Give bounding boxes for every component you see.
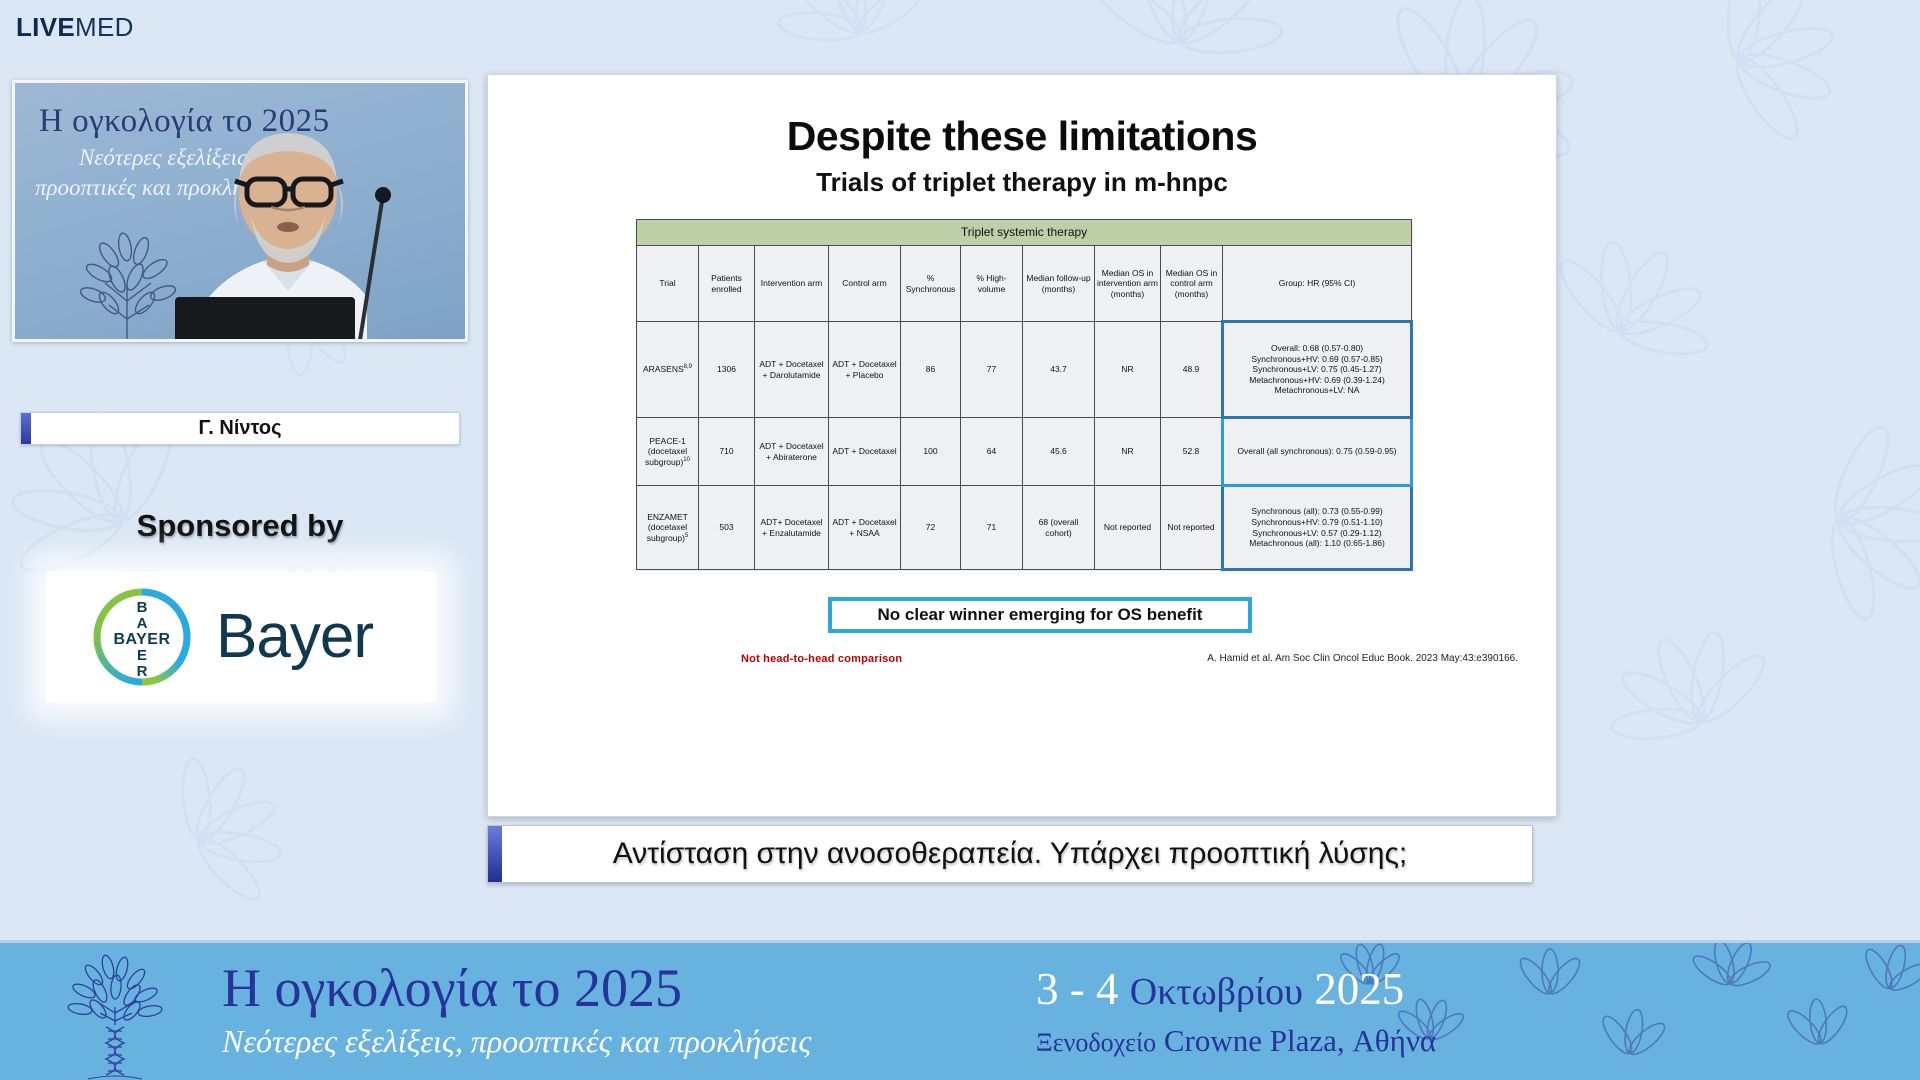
cell-os-control: 48.9 bbox=[1161, 322, 1223, 418]
svg-text:R: R bbox=[137, 663, 148, 680]
cell-os-intervention: NR bbox=[1095, 418, 1161, 486]
col-followup: Median follow-up (months) bbox=[1023, 246, 1095, 322]
cell-os-intervention: NR bbox=[1095, 322, 1161, 418]
slide-title: Despite these limitations bbox=[488, 113, 1556, 160]
cell-os-intervention: Not reported bbox=[1095, 486, 1161, 570]
cell-high-volume: 77 bbox=[961, 322, 1023, 418]
speaker-name-bar: Γ. Νίντος bbox=[20, 412, 460, 445]
banner-venue: Ξενοδοχείο Crowne Plaza, Αθήνα bbox=[1036, 1023, 1436, 1059]
presentation-slide[interactable]: Despite these limitations Trials of trip… bbox=[487, 74, 1557, 817]
cell-followup: 45.6 bbox=[1023, 418, 1095, 486]
col-intervention: Intervention arm bbox=[755, 246, 829, 322]
col-high-volume: % High-volume bbox=[961, 246, 1023, 322]
trial-ref: 5 bbox=[685, 533, 688, 539]
col-patients: Patients enrolled bbox=[699, 246, 755, 322]
cell-hazard-ratio: Overall: 0.68 (0.57-0.80) Synchronous+HV… bbox=[1223, 322, 1412, 418]
cell-high-volume: 64 bbox=[961, 418, 1023, 486]
table-row: ENZAMET (docetaxel subgroup)5 503 ADT+ D… bbox=[637, 486, 1412, 570]
banner-subtitle: Νεότερες εξελίξεις, προοπτικές και προκλ… bbox=[222, 1023, 811, 1060]
col-synchronous: % Synchronous bbox=[901, 246, 961, 322]
cell-hazard-ratio: Synchronous (all): 0.73 (0.55-0.99) Sync… bbox=[1223, 486, 1412, 570]
cell-control: ADT + Docetaxel + NSAA bbox=[829, 486, 901, 570]
bayer-wordmark: Bayer bbox=[216, 606, 373, 668]
sponsor-logo[interactable]: B A E R BAYER Bayer bbox=[46, 572, 436, 702]
cell-trial: ARASENS8,9 bbox=[637, 322, 699, 418]
footnote-citation: A. Hamid et al. Am Soc Clin Oncol Educ B… bbox=[1207, 653, 1518, 664]
session-caption-text: Αντίσταση στην ανοσοθεραπεία. Υπάρχει πρ… bbox=[613, 837, 1408, 871]
cell-trial: ENZAMET (docetaxel subgroup)5 bbox=[637, 486, 699, 570]
trial-ref: 8,9 bbox=[684, 364, 692, 370]
callout-box: No clear winner emerging for OS benefit bbox=[828, 597, 1252, 633]
laptop-on-podium bbox=[175, 297, 355, 339]
cell-synchronous: 72 bbox=[901, 486, 961, 570]
cell-followup: 68 (overall cohort) bbox=[1023, 486, 1095, 570]
table-row: ARASENS8,9 1306 ADT + Docetaxel + Darolu… bbox=[637, 322, 1412, 418]
svg-text:B: B bbox=[137, 599, 148, 616]
cell-patients: 710 bbox=[699, 418, 755, 486]
cell-hazard-ratio: Overall (all synchronous): 0.75 (0.59-0.… bbox=[1223, 418, 1412, 486]
banner-venue-name: Crowne Plaza, Αθήνα bbox=[1164, 1023, 1436, 1058]
cell-control: ADT + Docetaxel bbox=[829, 418, 901, 486]
cell-intervention: ADT+ Docetaxel + Enzalutamide bbox=[755, 486, 829, 570]
speaker-video-panel[interactable]: Η ογκολογία το 2025 Νεότερες εξελίξεις, … bbox=[12, 80, 468, 342]
sponsored-by-label: Sponsored by bbox=[0, 508, 480, 544]
table-column-header-row: Trial Patients enrolled Intervention arm… bbox=[637, 246, 1412, 322]
svg-text:BAYER: BAYER bbox=[113, 631, 170, 648]
table-group-header: Triplet systemic therapy bbox=[637, 220, 1412, 246]
cell-patients: 1306 bbox=[699, 322, 755, 418]
cell-intervention: ADT + Docetaxel + Darolutamide bbox=[755, 322, 829, 418]
cell-synchronous: 100 bbox=[901, 418, 961, 486]
banner-date-year: 2025 bbox=[1314, 964, 1404, 1014]
session-caption-bar: Αντίσταση στην ανοσοθεραπεία. Υπάρχει πρ… bbox=[487, 825, 1533, 883]
col-trial: Trial bbox=[637, 246, 699, 322]
cell-os-control: 52.8 bbox=[1161, 418, 1223, 486]
banner-tree-dna-icon bbox=[58, 951, 188, 1080]
trial-name: ENZAMET (docetaxel subgroup) bbox=[647, 512, 688, 543]
banner-date: 3 - 4 Οκτωβρίου 2025 bbox=[1036, 963, 1404, 1015]
trial-name: PEACE-1 (docetaxel subgroup) bbox=[645, 436, 687, 467]
event-banner: Η ογκολογία το 2025 Νεότερες εξελίξεις, … bbox=[0, 940, 1920, 1080]
footnote-warning: Not head-to-head comparison bbox=[741, 653, 902, 665]
cell-followup: 43.7 bbox=[1023, 322, 1095, 418]
cell-os-control: Not reported bbox=[1161, 486, 1223, 570]
livemed-logo[interactable]: LIVEMED bbox=[16, 14, 134, 40]
col-control: Control arm bbox=[829, 246, 901, 322]
cell-patients: 503 bbox=[699, 486, 755, 570]
col-hazard-ratio: Group: HR (95% CI) bbox=[1223, 246, 1412, 322]
table-row: PEACE-1 (docetaxel subgroup)10 710 ADT +… bbox=[637, 418, 1412, 486]
table-group-header-row: Triplet systemic therapy bbox=[637, 220, 1412, 246]
cell-trial: PEACE-1 (docetaxel subgroup)10 bbox=[637, 418, 699, 486]
slide-subtitle: Trials of triplet therapy in m-hnpc bbox=[488, 167, 1556, 198]
logo-med-text: MED bbox=[75, 12, 134, 42]
trials-comparison-table: Triplet systemic therapy Trial Patients … bbox=[636, 219, 1413, 571]
cell-intervention: ADT + Docetaxel + Abiraterone bbox=[755, 418, 829, 486]
banner-date-month: Οκτωβρίου bbox=[1130, 971, 1303, 1013]
svg-text:E: E bbox=[137, 647, 147, 664]
trial-name: ARASENS bbox=[643, 364, 684, 374]
logo-live-text: LIVE bbox=[16, 12, 75, 42]
cell-synchronous: 86 bbox=[901, 322, 961, 418]
trial-ref: 10 bbox=[683, 457, 690, 463]
speaker-name: Γ. Νίντος bbox=[198, 417, 281, 440]
cell-control: ADT + Docetaxel + Placebo bbox=[829, 322, 901, 418]
svg-text:A: A bbox=[137, 615, 148, 632]
banner-venue-prefix: Ξενοδοχείο bbox=[1036, 1028, 1156, 1057]
banner-date-days: 3 - 4 bbox=[1036, 964, 1119, 1014]
col-os-intervention: Median OS in intervention arm (months) bbox=[1095, 246, 1161, 322]
cell-high-volume: 71 bbox=[961, 486, 1023, 570]
bayer-cross-icon: B A E R BAYER bbox=[90, 585, 194, 689]
microphone-icon bbox=[375, 187, 391, 203]
banner-title: Η ογκολογία το 2025 bbox=[222, 957, 682, 1019]
col-os-control: Median OS in control arm (months) bbox=[1161, 246, 1223, 322]
